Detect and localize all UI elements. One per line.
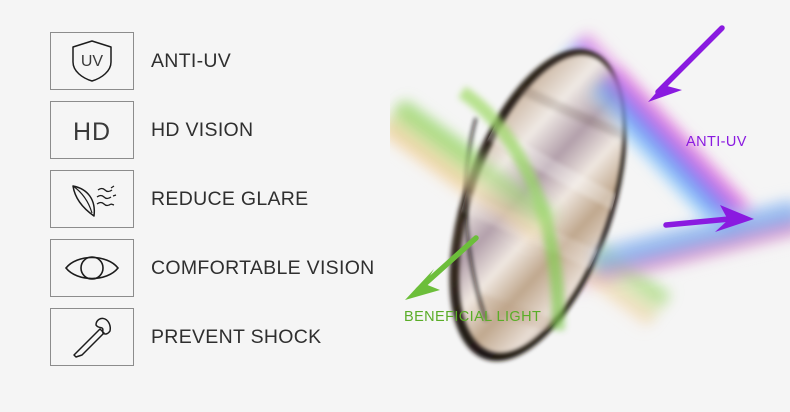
infographic-root: UV ANTI-UV HD HD VISION [0,0,790,412]
beneficial-light-beam-label: BENEFICIAL LIGHT [404,309,541,325]
uv-shield-icon: UV [50,32,134,90]
anti-uv-beam-label: ANTI-UV [686,134,747,150]
feature-label: COMFORTABLE VISION [151,257,375,280]
svg-text:UV: UV [81,53,104,70]
uv-incoming-arrow-shape [648,28,722,102]
svg-text:HD: HD [73,118,111,146]
feature-label: PREVENT SHOCK [151,326,321,349]
feature-label: HD VISION [151,119,253,142]
glare-rays-icon [50,170,134,228]
feature-label: ANTI-UV [151,50,231,73]
feature-label: REDUCE GLARE [151,188,308,211]
eye-icon [50,239,134,297]
hd-icon: HD [50,101,134,159]
hammer-icon [50,308,134,366]
lens-illustration [390,0,790,412]
